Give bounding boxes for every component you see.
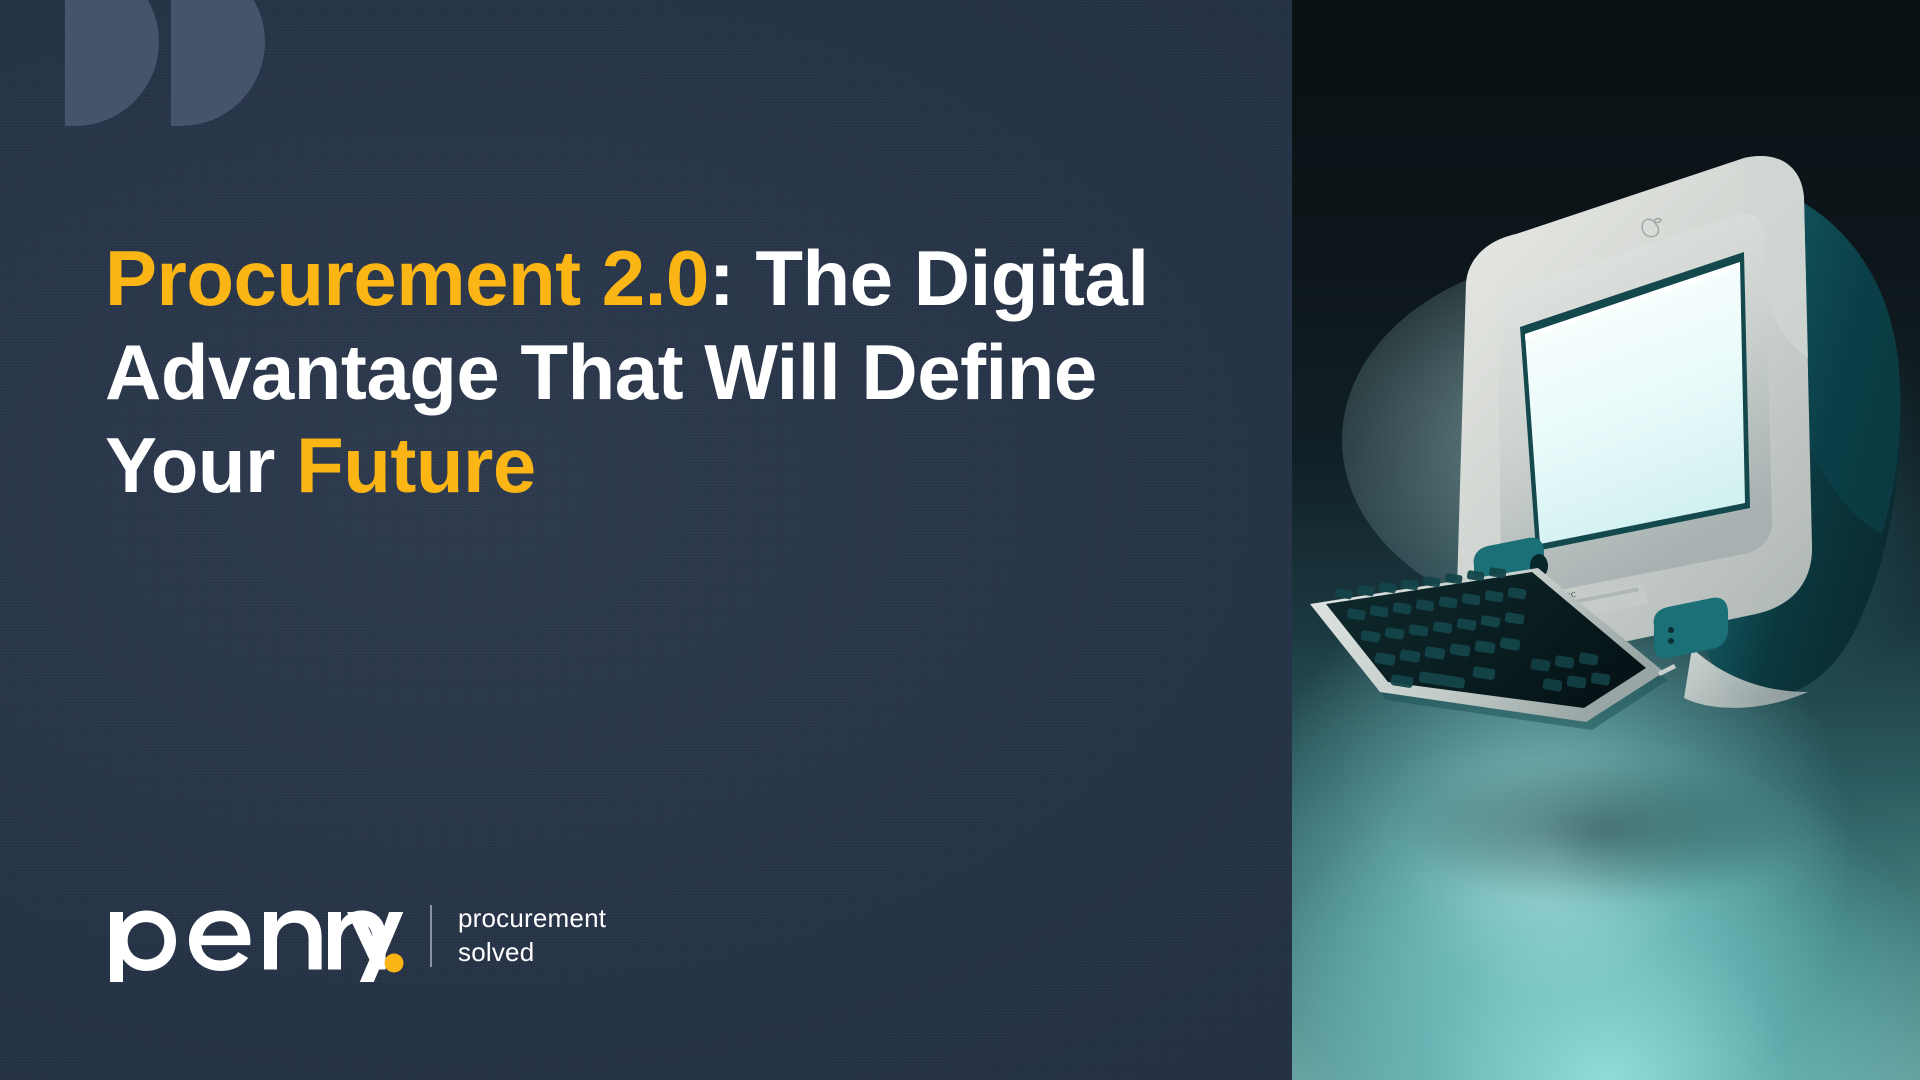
imac-product-scene: iMac [1292,0,1920,1080]
imac-g3-illustration: iMac [1292,0,1920,1080]
tagline-line-2: solved [458,936,606,970]
penny-wordmark-icon [104,890,404,982]
monogram-d-first [65,0,159,126]
headline-accent-tail: Future [296,421,536,509]
hero-image-panel: iMac [1292,0,1920,1080]
marketing-banner: Procurement 2.0: The Digital Advantage T… [0,0,1920,1080]
page-title: Procurement 2.0: The Digital Advantage T… [105,232,1215,513]
lockup-divider [430,905,432,967]
left-content-panel: Procurement 2.0: The Digital Advantage T… [0,0,1292,1080]
double-d-monogram-icon [65,0,265,126]
penny-logo-lockup: procurement solved [104,890,606,982]
penny-dot [385,954,404,973]
tagline-line-1: procurement [458,902,606,936]
monogram-d-second [171,0,265,126]
brand-tagline: procurement solved [458,902,606,970]
headline-accent-lead: Procurement 2.0 [105,234,709,322]
